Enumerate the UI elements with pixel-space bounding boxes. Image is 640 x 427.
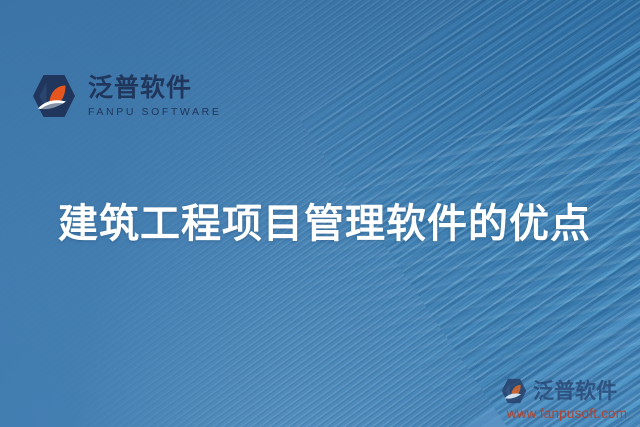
hero-banner: 泛普软件 FANPU SOFTWARE 建筑工程项目管理软件的优点 泛普软件 w… <box>0 0 640 427</box>
brand-logo: 泛普软件 FANPU SOFTWARE <box>30 72 221 120</box>
watermark: 泛普软件 www.fanpusoft.com <box>500 377 634 421</box>
fanpu-hexagon-logo-icon <box>30 72 78 120</box>
watermark-logo-row: 泛普软件 <box>500 377 634 405</box>
fanpu-hexagon-logo-icon <box>500 377 528 405</box>
brand-name-en: FANPU SOFTWARE <box>88 107 221 118</box>
page-title: 建筑工程项目管理软件的优点 <box>58 191 591 249</box>
watermark-url: www.fanpusoft.com <box>500 406 634 421</box>
brand-wordmark: 泛普软件 FANPU SOFTWARE <box>88 75 221 118</box>
watermark-name-cn: 泛普软件 <box>533 381 617 402</box>
brand-name-cn: 泛普软件 <box>88 75 221 100</box>
